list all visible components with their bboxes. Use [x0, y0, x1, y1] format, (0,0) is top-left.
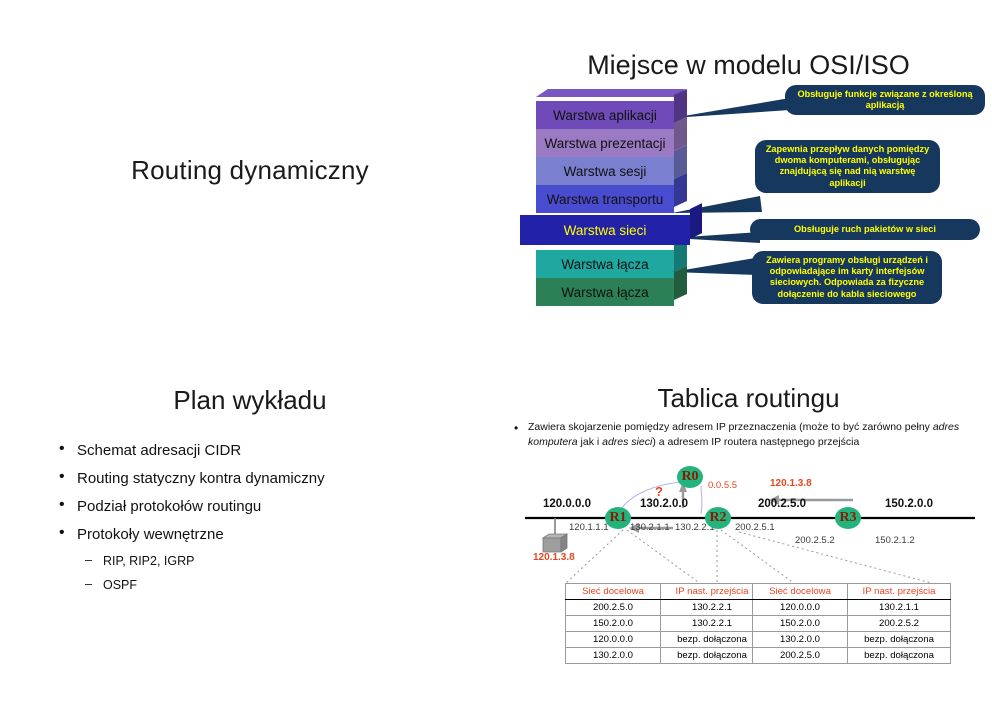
osi-stack-top-face	[536, 89, 686, 97]
red-label-0-0-5-5: 0.0.5.5	[708, 480, 737, 491]
list-item: Protokoły wewnętrzne	[55, 527, 475, 542]
interface-label-130-2-1-1: 130.2.1.1	[630, 522, 670, 533]
osi-callout-datalink: Zawiera programy obsługi urządzeń i odpo…	[752, 251, 942, 304]
router-node-R2[interactable]: R2	[705, 507, 731, 529]
interface-label-200-2-5-1: 200.2.5.1	[735, 522, 775, 533]
plan-bullet-list: Schemat adresacji CIDR Routing statyczny…	[55, 443, 475, 602]
router-node-R0[interactable]: R0	[677, 466, 703, 488]
routing-table-description: •Zawiera skojarzenie pomiędzy adresem IP…	[528, 420, 983, 450]
network-label-200: 200.2.5.0	[758, 498, 806, 510]
list-item: RIP, RIP2, IGRP	[55, 555, 475, 568]
list-item: Routing statyczny kontra dynamiczny	[55, 471, 475, 486]
red-label-120-1-3-8-top: 120.1.3.8	[770, 478, 812, 489]
network-label-150: 150.2.0.0	[885, 498, 933, 510]
osi-callout-network: Obsługuje ruch pakietów w sieci	[750, 219, 980, 240]
osi-layer-session: Warstwa sesji	[536, 157, 674, 185]
network-label-130: 130.2.0.0	[640, 498, 688, 510]
table-row: 200.2.5.0bezp. dołączona	[753, 648, 951, 664]
table-header-row: Sieć docelowa IP nast. przejścia	[566, 584, 764, 600]
table-row: 150.2.0.0130.2.2.1	[566, 616, 764, 632]
table-row: 120.0.0.0130.2.1.1	[753, 600, 951, 616]
red-label-120-1-3-8-host: 120.1.3.8	[533, 552, 575, 563]
osi-callout-application: Obsługuje funkcje związane z określoną a…	[785, 85, 985, 115]
table-row: 120.0.0.0bezp. dołączona	[566, 632, 764, 648]
osi-layer-transport: Warstwa transportu	[536, 185, 674, 213]
column-header-dest: Sieć docelowa	[566, 584, 661, 600]
list-item: Schemat adresacji CIDR	[55, 443, 475, 458]
bullet-glyph: •	[514, 420, 518, 437]
osi-layer-datalink-upper: Warstwa łącza	[536, 250, 674, 278]
table-row: 130.2.0.0bezp. dołączona	[753, 632, 951, 648]
list-item: OSPF	[55, 579, 475, 592]
network-label-120: 120.0.0.0	[543, 498, 591, 510]
network-topology-diagram: R0 R1 R2 R3 120.0.0.0 130.2.0.0 200.2.5.…	[505, 452, 992, 582]
slide-title-routing-dynamiczny: Routing dynamiczny	[0, 155, 500, 186]
osi-layer-stack: Warstwa aplikacji Warstwa prezentacji Wa…	[520, 95, 770, 325]
interface-label-200-2-5-2: 200.2.5.2	[795, 535, 835, 546]
column-header-dest: Sieć docelowa	[753, 584, 848, 600]
osi-callout-transport: Zapewnia przepływ danych pomiędzy dwoma …	[755, 140, 940, 193]
routing-table-r2: Sieć docelowa IP nast. przejścia 120.0.0…	[752, 583, 951, 664]
routing-table-r1: Sieć docelowa IP nast. przejścia 200.2.5…	[565, 583, 764, 664]
osi-slide-title: Miejsce w modelu OSI/ISO	[505, 50, 992, 81]
router-node-R3[interactable]: R3	[835, 507, 861, 529]
osi-layer-presentation: Warstwa prezentacji	[536, 129, 674, 157]
routing-table-slide-title: Tablica routingu	[505, 383, 992, 414]
interface-label-150-2-1-2: 150.2.1.2	[875, 535, 915, 546]
osi-layer-application: Warstwa aplikacji	[536, 101, 674, 129]
table-row: 130.2.0.0bezp. dołączona	[566, 648, 764, 664]
column-header-nexthop: IP nast. przejścia	[661, 584, 764, 600]
table-row: 200.2.5.0130.2.2.1	[566, 600, 764, 616]
list-item: Podział protokołów routingu	[55, 499, 475, 514]
question-mark-label: ?	[655, 484, 663, 499]
osi-layer-network: Warstwa sieci	[520, 215, 690, 245]
interface-label-120-1-1-1: 120.1.1.1	[569, 522, 609, 533]
plan-slide-title: Plan wykładu	[0, 385, 500, 416]
osi-layer-datalink-lower: Warstwa łącza	[536, 278, 674, 306]
column-header-nexthop: IP nast. przejścia	[848, 584, 951, 600]
table-row: 150.2.0.0200.2.5.2	[753, 616, 951, 632]
table-header-row: Sieć docelowa IP nast. przejścia	[753, 584, 951, 600]
router-node-R1[interactable]: R1	[605, 507, 631, 529]
